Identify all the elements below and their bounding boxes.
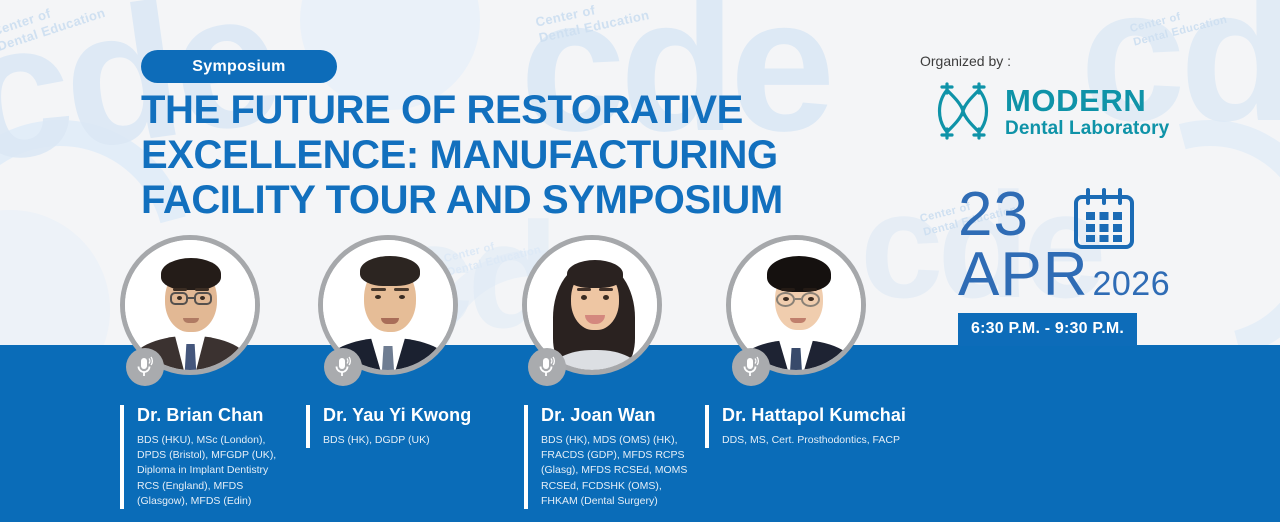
speaker-name: Dr. Hattapol Kumchai: [722, 405, 920, 426]
speaker-info: Dr. Yau Yi Kwong BDS (HK), DGDP (UK): [306, 405, 496, 448]
speaker-info: Dr. Hattapol Kumchai DDS, MS, Cert. Pros…: [705, 405, 920, 448]
speaker-credentials: BDS (HK), DGDP (UK): [323, 433, 496, 448]
microphone-icon: [537, 356, 557, 378]
speaker-credentials: BDS (HK), MDS (OMS) (HK), FRACDS (GDP), …: [541, 433, 696, 509]
speaker-name: Dr. Brian Chan: [137, 405, 288, 426]
speaker-name: Dr. Joan Wan: [541, 405, 696, 426]
microphone-icon: [741, 356, 761, 378]
speaker-name: Dr. Yau Yi Kwong: [323, 405, 496, 426]
microphone-badge: [126, 348, 164, 386]
speakers-section: Dr. Brian Chan BDS (HKU), MSc (London), …: [0, 0, 1280, 522]
speaker-credentials: DDS, MS, Cert. Prosthodontics, FACP: [722, 433, 920, 448]
microphone-badge: [732, 348, 770, 386]
microphone-badge: [528, 348, 566, 386]
event-banner: cde cde cde cde cde Center of Dental Edu…: [0, 0, 1280, 522]
speaker-credentials: BDS (HKU), MSc (London), DPDS (Bristol),…: [137, 433, 288, 509]
speaker-info: Dr. Joan Wan BDS (HK), MDS (OMS) (HK), F…: [524, 405, 696, 509]
microphone-icon: [135, 356, 155, 378]
speaker-info: Dr. Brian Chan BDS (HKU), MSc (London), …: [120, 405, 288, 509]
microphone-icon: [333, 356, 353, 378]
microphone-badge: [324, 348, 362, 386]
